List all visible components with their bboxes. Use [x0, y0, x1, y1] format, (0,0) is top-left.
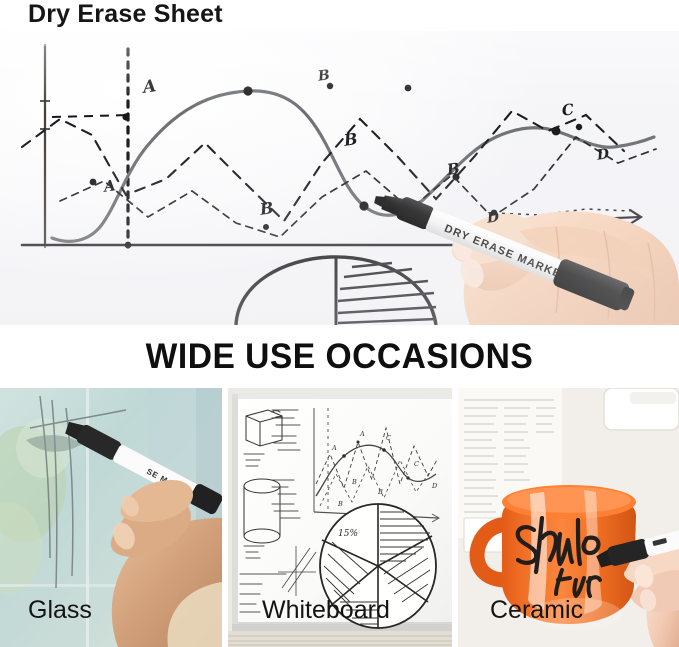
- use-case-panels: SE MARKER Glass: [0, 388, 679, 647]
- hero-vignette: [0, 31, 679, 325]
- hero-whiteboard-photo: DRY ERASE MARKER A A B B B B C D D: [0, 31, 679, 325]
- title-bar: Dry Erase Sheet: [0, 0, 679, 31]
- panel-label-glass: Glass: [28, 598, 92, 623]
- panel-label-ceramic: Ceramic: [490, 598, 583, 623]
- panel-glass: SE MARKER Glass: [0, 388, 222, 647]
- section-heading: WIDE USE OCCASIONS: [14, 325, 666, 388]
- panel-label-whiteboard: Whiteboard: [262, 598, 390, 623]
- product-infographic: Dry Erase Sheet: [0, 0, 679, 647]
- panel-ceramic: MASS: [458, 388, 679, 647]
- section-heading-band: WIDE USE OCCASIONS: [0, 325, 679, 388]
- page-title: Dry Erase Sheet: [28, 0, 223, 30]
- panel-whiteboard: AA CB BC DB: [228, 388, 452, 647]
